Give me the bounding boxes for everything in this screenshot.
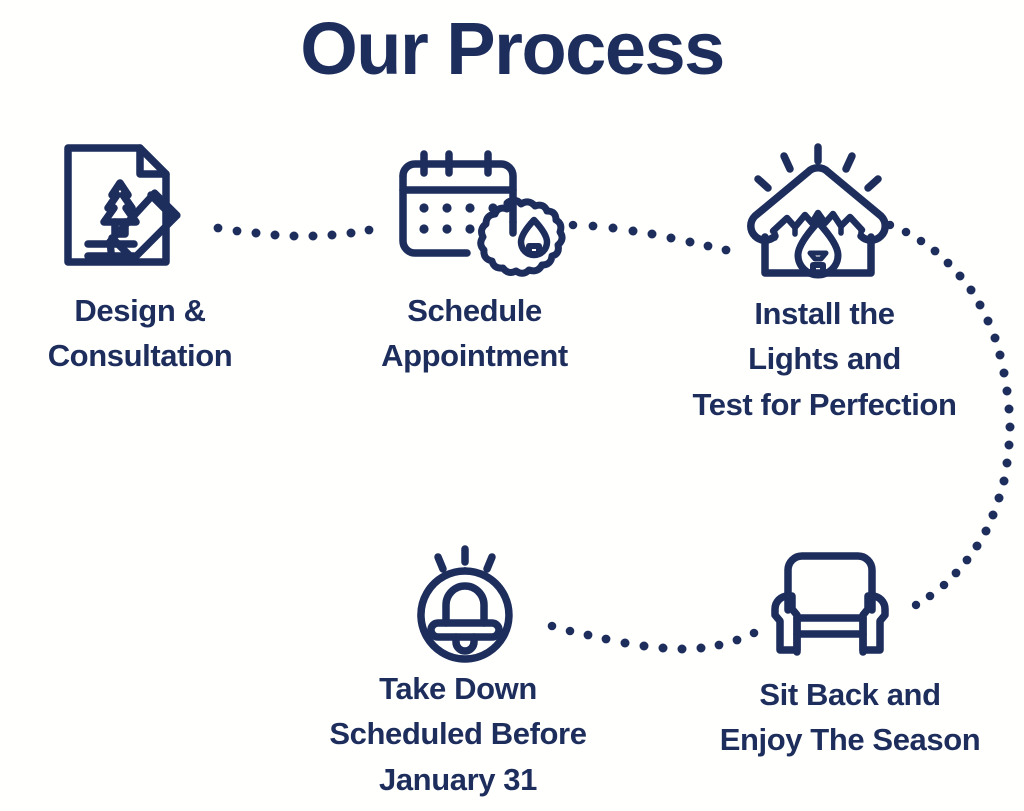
- connector-step1-to-step2: [214, 224, 374, 241]
- house-lights-icon: [737, 143, 899, 285]
- step-5-label: Sit Back and Enjoy The Season: [690, 672, 1010, 763]
- step-2-label: Schedule Appointment: [332, 288, 617, 379]
- document-tree-pencil-icon: [48, 136, 203, 276]
- calendar-bulb-badge-icon: [389, 140, 549, 285]
- step-4-label: Take Down Scheduled Before January 31: [283, 666, 633, 802]
- step-3-label: Install the Lights and Test for Perfecti…: [627, 291, 1022, 427]
- step-1-label: Design & Consultation: [0, 288, 280, 379]
- page-title: Our Process: [0, 12, 1024, 86]
- connector-step5-to-step4: [548, 622, 759, 654]
- bell-circle-icon: [404, 545, 526, 663]
- connector-step2-to-step3: [569, 221, 731, 255]
- armchair-icon: [766, 548, 894, 658]
- process-diagram: Our Process .dot { fill: #1d2d5c; }: [0, 0, 1024, 811]
